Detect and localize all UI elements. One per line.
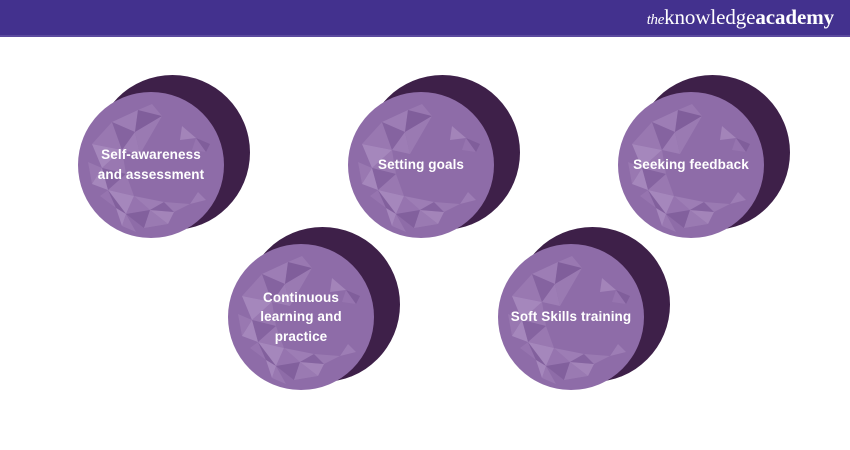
facet-polygon: [330, 278, 346, 292]
badge-soft-skills-training[interactable]: Soft Skills training: [498, 227, 668, 402]
badge-facet-texture: [618, 92, 764, 238]
facet-polygon: [190, 192, 206, 204]
badge-circle: [348, 92, 494, 238]
badge-diagram: Self-awareness and assessmentSetting goa…: [0, 37, 850, 450]
facet-polygon: [720, 126, 736, 140]
facet-polygon: [340, 344, 356, 356]
badge-self-awareness-and-assessment[interactable]: Self-awareness and assessment: [78, 75, 248, 250]
logo-text-the: the: [647, 13, 664, 28]
badge-circle: [228, 244, 374, 390]
badge-circle: [498, 244, 644, 390]
badge-setting-goals[interactable]: Setting goals: [348, 75, 518, 250]
logo-text-academy: academy: [755, 7, 834, 28]
badge-seeking-feedback[interactable]: Seeking feedback: [618, 75, 788, 250]
badge-continuous-learning-and-practice[interactable]: Continuous learning and practice: [228, 227, 398, 402]
facet-polygon: [180, 126, 196, 140]
facet-polygon: [610, 344, 626, 356]
brand-logo[interactable]: theknowledgeacademy: [647, 7, 834, 28]
facet-polygon: [730, 192, 746, 204]
facet-polygon: [450, 126, 466, 140]
badge-circle: [618, 92, 764, 238]
badge-facet-texture: [348, 92, 494, 238]
badge-circle: [78, 92, 224, 238]
facet-polygon: [600, 278, 616, 292]
badge-facet-texture: [228, 244, 374, 390]
badge-facet-texture: [78, 92, 224, 238]
facet-polygon: [460, 192, 476, 204]
badge-facet-texture: [498, 244, 644, 390]
page-header: theknowledgeacademy: [0, 0, 850, 37]
logo-text-knowledge: knowledge: [664, 7, 755, 28]
